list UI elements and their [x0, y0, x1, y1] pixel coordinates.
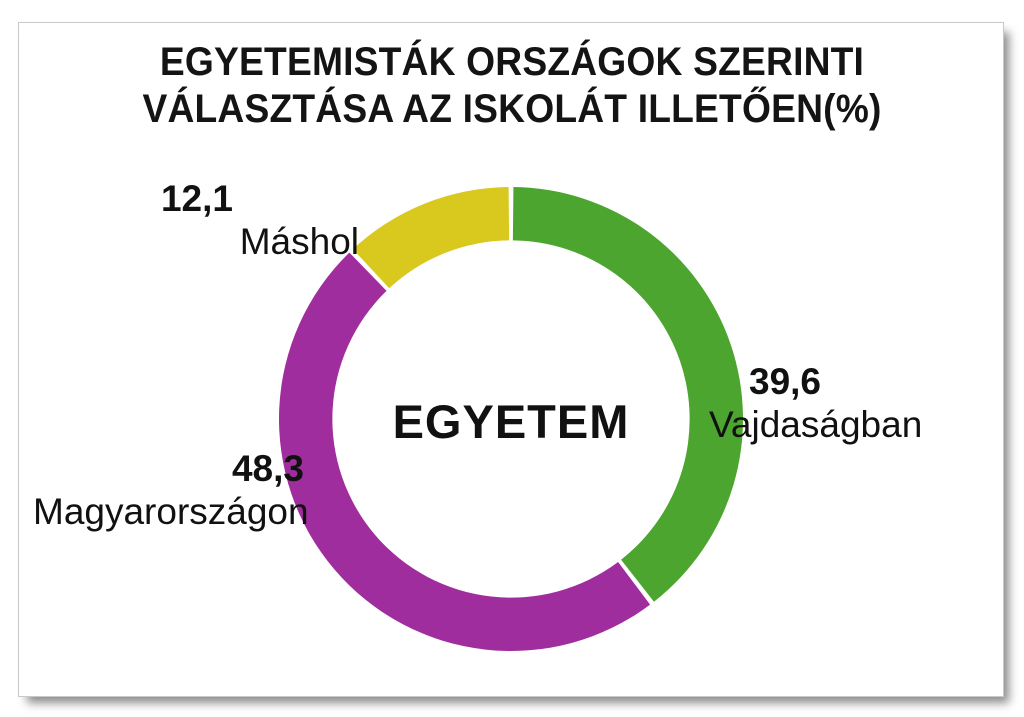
slice-name-mashol: Máshol	[39, 220, 359, 264]
slice-name-magyarorszagon: Magyarországon	[33, 490, 413, 534]
slice-value-vajdasagban: 39,6	[709, 361, 995, 403]
slice-name-vajdasagban: Vajdaságban	[709, 403, 995, 447]
slice-value-magyarorszagon: 48,3	[33, 448, 413, 490]
slice-value-mashol: 12,1	[39, 178, 359, 220]
slice-label-magyarorszagon: 48,3 Magyarországon	[33, 448, 413, 534]
chart-card: EGYETEMISTÁK ORSZÁGOK SZERINTI VÁLASZTÁS…	[18, 22, 1004, 697]
page-title: EGYETEMISTÁK ORSZÁGOK SZERINTI VÁLASZTÁS…	[54, 39, 971, 133]
slice-label-mashol: 12,1 Máshol	[39, 178, 359, 264]
donut-slice	[353, 187, 509, 288]
slice-label-vajdasagban: 39,6 Vajdaságban	[709, 361, 995, 447]
screenshot-root: EGYETEMISTÁK ORSZÁGOK SZERINTI VÁLASZTÁS…	[0, 0, 1024, 717]
donut-center-label: EGYETEM	[341, 396, 681, 448]
